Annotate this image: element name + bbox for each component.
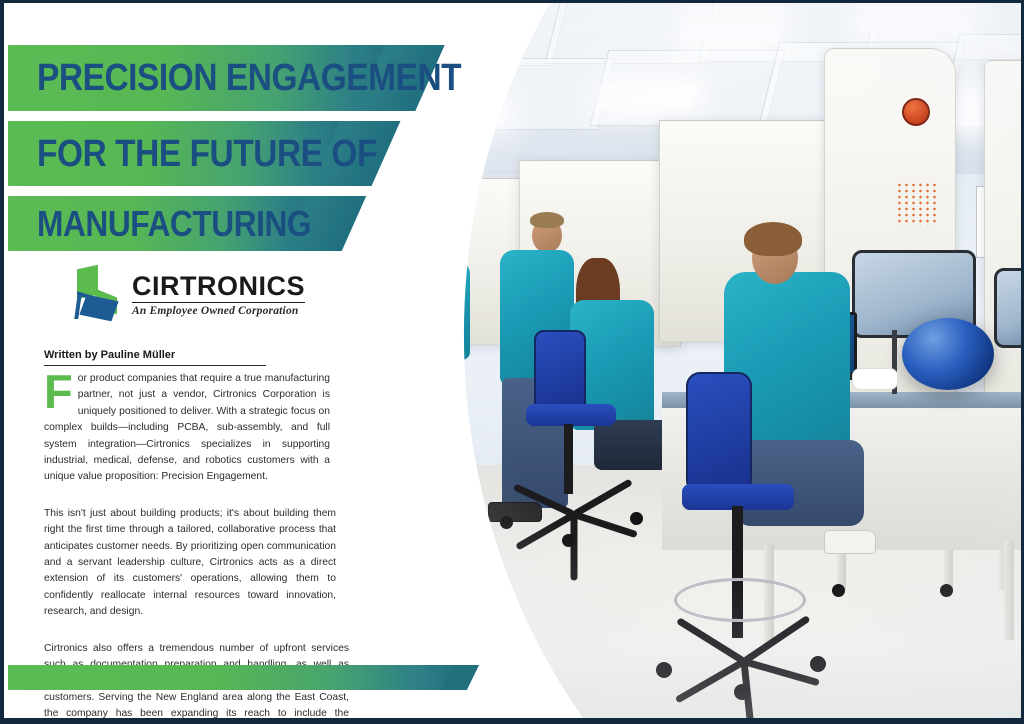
worker-head <box>356 230 382 260</box>
logo-tagline: An Employee Owned Corporation <box>132 306 305 318</box>
worker-lab-coat <box>404 260 470 360</box>
bar-angle <box>441 665 479 690</box>
logo-company-name: CIRTRONICS <box>132 273 305 303</box>
headline-line-2: FOR THE FUTURE OF <box>8 135 377 173</box>
headline-bar-2: FOR THE FUTURE OF <box>8 121 356 186</box>
drop-cap: F <box>44 373 73 411</box>
paragraph-text: This isn't just about building products;… <box>44 508 336 617</box>
worker-hair <box>354 226 384 243</box>
worker-shoe <box>390 470 438 489</box>
paragraph-text: or product companies that require a true… <box>44 373 330 482</box>
paragraph: This isn't just about building products;… <box>44 506 336 621</box>
worker-lab-coat <box>334 252 392 347</box>
cirtronics-logo: CIRTRONICS An Employee Owned Corporation <box>66 267 305 323</box>
cirtronics-logo-mark-icon <box>66 267 120 323</box>
magazine-page: PRECISION ENGAGEMENT FOR THE FUTURE OF M… <box>0 0 1024 724</box>
byline: Written by Pauline Müller <box>44 349 266 366</box>
worker-hair <box>430 234 461 252</box>
headline-bar-3: MANUFACTURING <box>8 196 324 251</box>
worker-pants <box>397 349 471 474</box>
headline-line-1: PRECISION ENGAGEMENT <box>8 59 461 97</box>
footer-accent-bar <box>8 665 460 690</box>
headline-line-3: MANUFACTURING <box>8 206 311 242</box>
logo-text-block: CIRTRONICS An Employee Owned Corporation <box>132 273 305 318</box>
worker-head <box>432 238 459 269</box>
paragraph: For product companies that require a tru… <box>44 371 330 486</box>
headline-bar-1: PRECISION ENGAGEMENT <box>8 45 400 111</box>
